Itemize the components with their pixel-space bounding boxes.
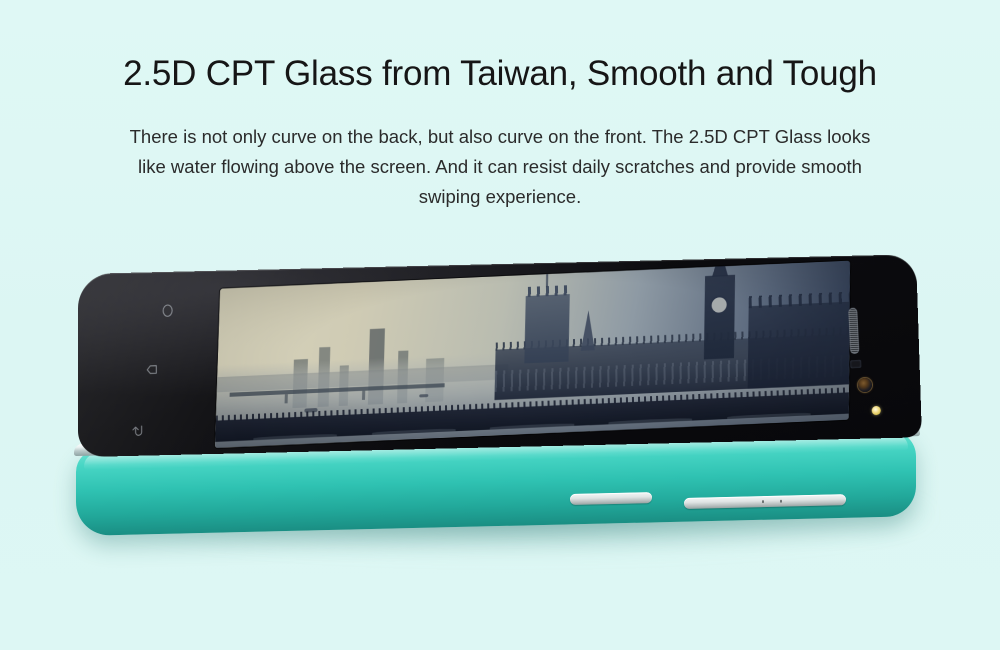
river-boat: [419, 394, 428, 397]
glass-sheen: [78, 254, 922, 457]
river-boat: [305, 408, 318, 413]
bridge-arch: [727, 413, 811, 419]
promo-banner: 2.5D CPT Glass from Taiwan, Smooth and T…: [0, 0, 1000, 650]
embankment: [217, 365, 508, 392]
skyline-block: [292, 359, 307, 407]
central-spire: [581, 310, 596, 351]
power-button[interactable]: [570, 492, 652, 505]
bridge-arch: [609, 418, 693, 424]
skyline-block: [339, 365, 349, 405]
navigation-keys: [130, 292, 201, 448]
big-ben-clock-tower: [704, 275, 735, 359]
phone-screen: [215, 261, 850, 448]
rail-highlight: [84, 435, 908, 470]
bridge-arch: [490, 423, 574, 429]
skyline-block: [425, 358, 444, 402]
bridge-arch: [253, 434, 337, 440]
page-description: There is not only curve on the back, but…: [114, 96, 886, 212]
proximity-sensor-icon: [850, 360, 861, 369]
phone-rear-shell: [76, 430, 916, 536]
abbey-towers: [748, 302, 850, 389]
bridge-arch: [372, 429, 456, 435]
phone-chassis: [70, 268, 930, 568]
far-bridge: [229, 383, 444, 397]
frame-glint: [94, 446, 184, 455]
skyline-block: [317, 347, 330, 406]
skyline-block: [397, 350, 408, 403]
drop-shadow: [100, 476, 930, 554]
victoria-tower: [524, 294, 569, 364]
menu-icon[interactable]: [144, 362, 159, 378]
river-thames: [215, 337, 850, 448]
page-title: 2.5D CPT Glass from Taiwan, Smooth and T…: [0, 0, 1000, 96]
front-camera-icon: [858, 378, 872, 393]
photo-vignette: [215, 261, 850, 448]
phone-front-glass: [78, 254, 922, 457]
earpiece-speaker: [848, 308, 859, 355]
westminster-bridge: [215, 393, 849, 442]
skyline-block: [368, 329, 385, 405]
volume-rocker[interactable]: [684, 494, 846, 509]
wallpaper-image: [215, 261, 850, 448]
copy-block: 2.5D CPT Glass from Taiwan, Smooth and T…: [0, 0, 1000, 212]
palace-of-westminster: [495, 334, 850, 401]
bridge-arches: [253, 413, 811, 440]
notification-led-icon: [872, 406, 881, 416]
chrome-frame: [74, 424, 920, 456]
home-icon[interactable]: [160, 303, 175, 319]
back-icon[interactable]: [130, 423, 145, 439]
smartphone: [70, 268, 930, 568]
